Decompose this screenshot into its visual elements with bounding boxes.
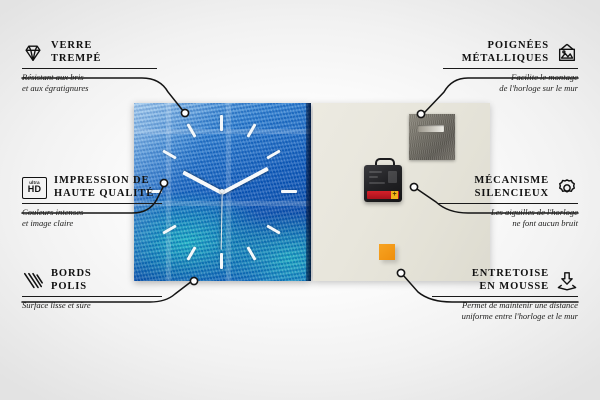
callout-title: MÉCANISME SILENCIEUX [474, 175, 549, 200]
callout-rule [22, 296, 162, 297]
callout-rule [432, 296, 578, 297]
callout-subtitle: Permet de maintenir une distance uniform… [432, 300, 578, 321]
mechanism-mark [369, 176, 378, 178]
mechanism-battery: + [367, 191, 399, 199]
callout-silent-mechanism[interactable]: MÉCANISME SILENCIEUX Les aiguilles de l'… [438, 175, 578, 228]
hour-tick [266, 224, 280, 234]
hour-tick [266, 149, 280, 159]
callout-title: IMPRESSION DE HAUTE QUALITÉ [54, 175, 154, 200]
hour-hand [182, 171, 223, 195]
gear-icon [556, 177, 578, 199]
callout-polished-edges[interactable]: BORDS POLIS Surface lisse et sûre [22, 268, 162, 311]
callout-metal-handles[interactable]: POIGNÉES MÉTALLIQUES Facilite le montage… [443, 40, 578, 93]
arrow-down-pad-icon [556, 270, 578, 292]
callout-subtitle: Facilite le montage de l'horloge sur le … [443, 72, 578, 93]
callout-subtitle: Surface lisse et sûre [22, 300, 162, 311]
callout-print-quality[interactable]: ultra HD IMPRESSION DE HAUTE QUALITÉ Cou… [22, 175, 162, 228]
hour-tick [186, 246, 196, 260]
glass-edge [306, 103, 311, 281]
callout-title: POIGNÉES MÉTALLIQUES [462, 40, 549, 65]
badge-main-label: HD [28, 185, 42, 194]
callout-subtitle: Les aiguilles de l'horloge ne font aucun… [438, 207, 578, 228]
hour-tick [220, 115, 223, 131]
hour-tick [246, 246, 256, 260]
callout-title: BORDS POLIS [51, 268, 92, 293]
hand-pin [220, 189, 224, 193]
hour-tick [220, 253, 223, 269]
infographic-canvas: + [0, 0, 600, 400]
mechanism-mark [369, 182, 385, 184]
wall-frame-icon [556, 42, 578, 64]
handle-slot [418, 125, 444, 132]
callout-subtitle: Couleurs intenses et image claire [22, 207, 162, 228]
callout-rule [443, 68, 578, 69]
callout-subtitle: Résistant aux bris et aux égratignures [22, 72, 157, 93]
mechanism-mark [388, 171, 397, 183]
diamond-icon [22, 42, 44, 64]
callout-title: ENTRETOISE EN MOUSSE [472, 268, 549, 293]
metal-handle [409, 114, 455, 160]
callout-rule [22, 68, 157, 69]
callout-rule [22, 203, 162, 204]
polished-edges-icon [22, 270, 44, 292]
callout-title: VERRE TREMPÉ [51, 40, 101, 65]
callout-rule [438, 203, 578, 204]
foam-spacer [379, 244, 395, 260]
mechanism-mark [369, 171, 382, 173]
product-image: + [134, 103, 490, 281]
clock-mechanism: + [364, 165, 402, 202]
callout-foam-spacer[interactable]: ENTRETOISE EN MOUSSE Permet de maintenir… [432, 268, 578, 321]
battery-plus-label: + [391, 191, 398, 199]
callout-tempered-glass[interactable]: VERRE TREMPÉ Résistant aux bris et aux é… [22, 40, 157, 93]
mechanism-body: + [364, 165, 402, 202]
ultra-hd-badge-icon: ultra HD [22, 177, 47, 199]
second-hand [220, 192, 222, 250]
hour-tick [281, 190, 297, 193]
